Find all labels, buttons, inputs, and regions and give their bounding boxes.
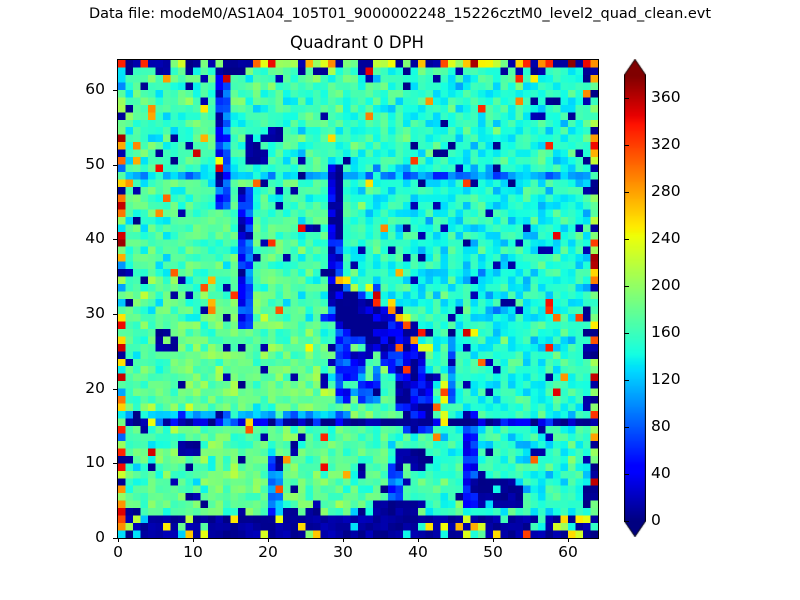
colorbar-tick-mark bbox=[624, 145, 629, 146]
colorbar-tick-label: 40 bbox=[651, 465, 671, 482]
colorbar-tick-mark bbox=[624, 427, 629, 428]
x-tick-mark bbox=[568, 538, 569, 542]
colorbar-tick-mark bbox=[624, 192, 629, 193]
y-tick-mark bbox=[113, 314, 117, 315]
colorbar-tick-label: 360 bbox=[651, 89, 681, 106]
x-tick-mark bbox=[118, 538, 119, 542]
y-tick-label: 40 bbox=[45, 230, 105, 247]
x-tick-mark bbox=[418, 538, 419, 542]
colorbar-tick-label: 80 bbox=[651, 418, 671, 435]
y-tick-label: 20 bbox=[45, 380, 105, 397]
colorbar-tick-label: 160 bbox=[651, 324, 681, 341]
colorbar-tick-mark bbox=[624, 333, 629, 334]
x-tick-label: 50 bbox=[463, 544, 523, 561]
x-tick-mark bbox=[268, 538, 269, 542]
colorbar-tick-label: 320 bbox=[651, 136, 681, 153]
x-tick-mark bbox=[193, 538, 194, 542]
y-tick-label: 60 bbox=[45, 81, 105, 98]
x-tick-label: 10 bbox=[163, 544, 223, 561]
colorbar-tick-label: 280 bbox=[651, 183, 681, 200]
heatmap-axes bbox=[117, 59, 599, 539]
colorbar-tick-mark bbox=[624, 286, 629, 287]
y-tick-mark bbox=[113, 90, 117, 91]
matplotlib-figure: Data file: modeM0/AS1A04_105T01_90000022… bbox=[0, 0, 800, 600]
x-tick-label: 0 bbox=[88, 544, 148, 561]
x-tick-mark bbox=[343, 538, 344, 542]
y-tick-mark bbox=[113, 538, 117, 539]
colorbar-tick-mark bbox=[624, 521, 629, 522]
x-tick-label: 40 bbox=[388, 544, 448, 561]
colorbar-tick-label: 240 bbox=[651, 230, 681, 247]
x-tick-label: 60 bbox=[538, 544, 598, 561]
y-tick-mark bbox=[113, 165, 117, 166]
colorbar bbox=[624, 59, 646, 537]
colorbar-tick-mark bbox=[624, 380, 629, 381]
y-tick-label: 30 bbox=[45, 305, 105, 322]
y-tick-mark bbox=[113, 239, 117, 240]
y-tick-label: 50 bbox=[45, 156, 105, 173]
colorbar-tick-mark bbox=[624, 239, 629, 240]
x-tick-label: 30 bbox=[313, 544, 373, 561]
axes-title: Quadrant 0 DPH bbox=[117, 33, 597, 53]
figure-suptitle: Data file: modeM0/AS1A04_105T01_90000022… bbox=[0, 5, 800, 23]
colorbar-gradient bbox=[624, 59, 646, 537]
colorbar-tick-label: 200 bbox=[651, 277, 681, 294]
colorbar-tick-label: 0 bbox=[651, 512, 661, 529]
y-tick-mark bbox=[113, 463, 117, 464]
heatmap-image bbox=[118, 60, 598, 538]
y-tick-label: 0 bbox=[45, 529, 105, 546]
x-tick-mark bbox=[493, 538, 494, 542]
x-tick-label: 20 bbox=[238, 544, 298, 561]
colorbar-tick-mark bbox=[624, 474, 629, 475]
colorbar-tick-label: 120 bbox=[651, 371, 681, 388]
y-tick-label: 10 bbox=[45, 454, 105, 471]
colorbar-tick-mark bbox=[624, 98, 629, 99]
y-tick-mark bbox=[113, 389, 117, 390]
